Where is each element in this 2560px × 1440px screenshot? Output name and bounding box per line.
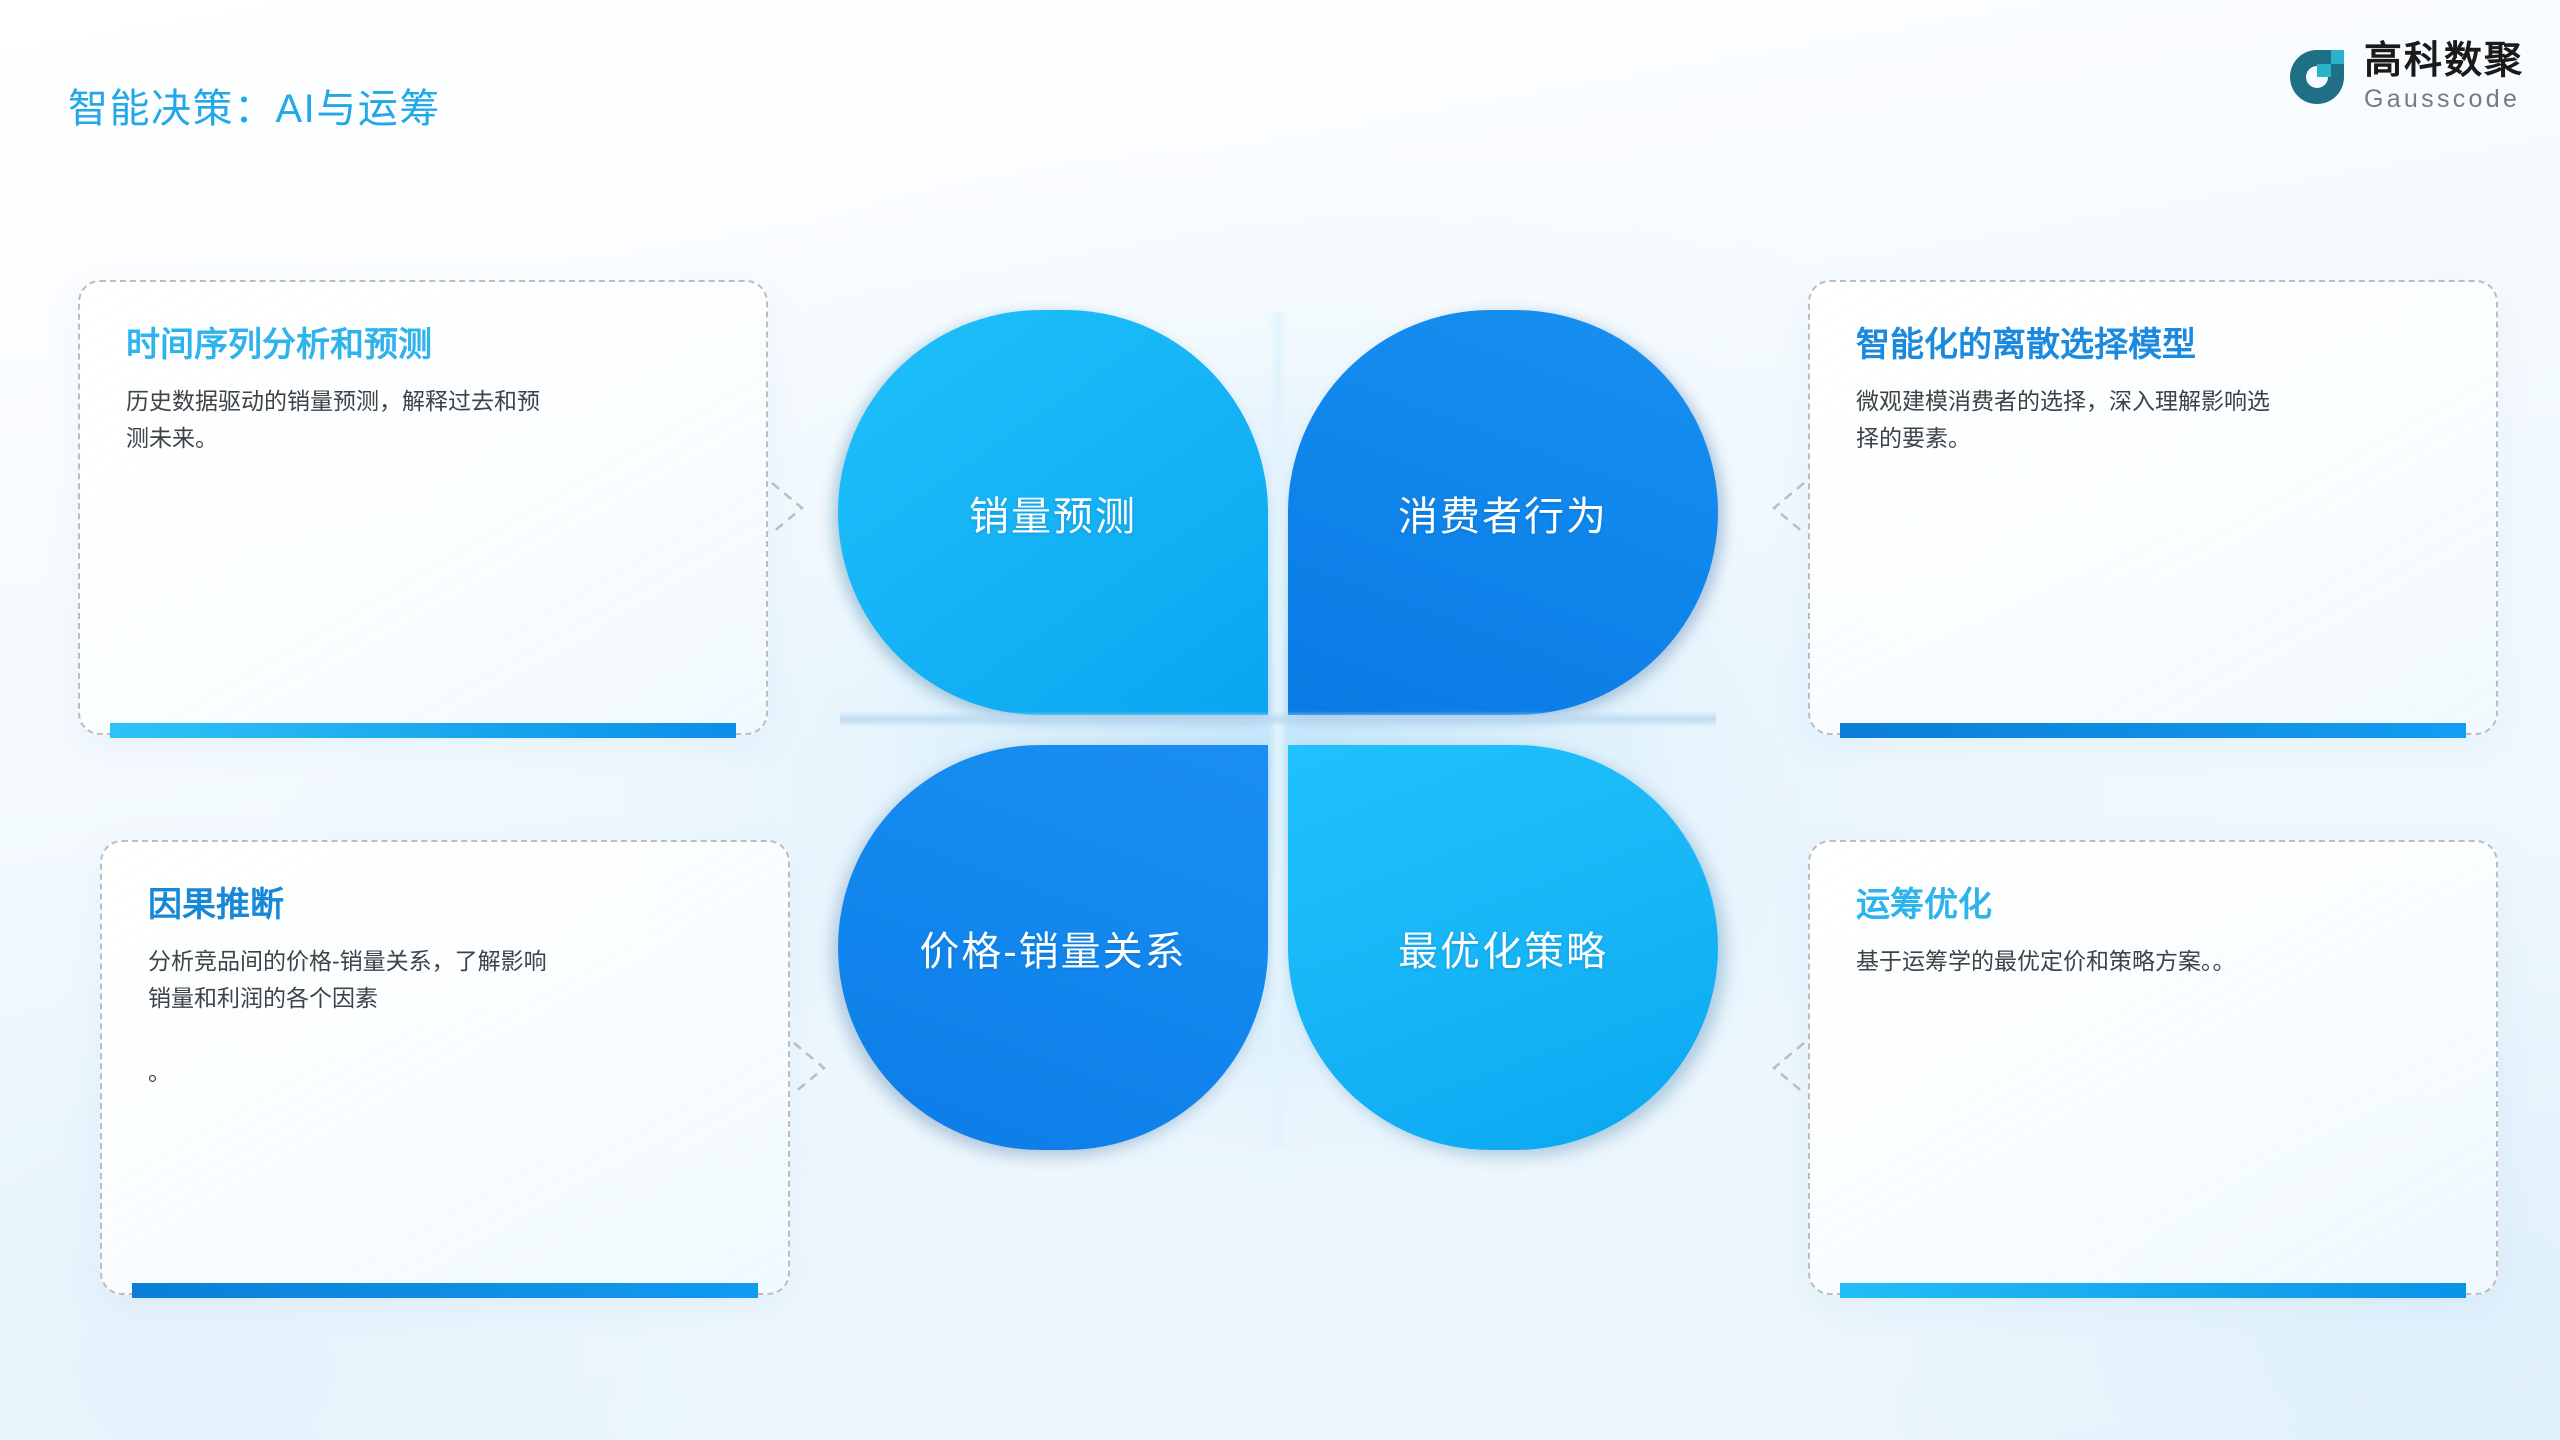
brand-logo: 高科数聚 Gausscode bbox=[2286, 42, 2524, 112]
petal-sales-forecast[interactable]: 销量预测 bbox=[838, 310, 1268, 715]
chevron-left-icon bbox=[1766, 477, 1808, 539]
chevron-left-icon bbox=[1766, 1037, 1808, 1099]
chevron-right-icon bbox=[790, 1037, 832, 1099]
info-card-body: 历史数据驱动的销量预测，解释过去和预 测未来。 bbox=[126, 383, 720, 458]
petal-label: 销量预测 bbox=[969, 484, 1137, 542]
brand-logo-text: 高科数聚 Gausscode bbox=[2364, 42, 2524, 112]
info-card-accent-bar bbox=[1840, 1283, 2466, 1298]
petal-label: 消费者行为 bbox=[1398, 484, 1608, 542]
info-card-title: 时间序列分析和预测 bbox=[126, 324, 720, 367]
chevron-right-icon bbox=[768, 477, 810, 539]
petal-price-sales-relation[interactable]: 价格-销量关系 bbox=[838, 745, 1268, 1150]
info-card-title: 运筹优化 bbox=[1856, 884, 2450, 927]
info-card-title: 智能化的离散选择模型 bbox=[1856, 324, 2450, 367]
info-card-body: 基于运筹学的最优定价和策略方案。。 bbox=[1856, 943, 2450, 980]
brand-name-en: Gausscode bbox=[2364, 87, 2524, 112]
petal-optimization-strategy[interactable]: 最优化策略 bbox=[1288, 745, 1718, 1150]
info-card-time-series[interactable]: 时间序列分析和预测 历史数据驱动的销量预测，解释过去和预 测未来。 bbox=[78, 280, 768, 735]
info-card-accent-bar bbox=[110, 723, 736, 738]
info-card-causal-inference[interactable]: 因果推断 分析竞品间的价格-销量关系，了解影响 销量和利润的各个因素 。 bbox=[100, 840, 790, 1295]
info-card-operations-research[interactable]: 运筹优化 基于运筹学的最优定价和策略方案。。 bbox=[1808, 840, 2498, 1295]
slide-canvas: 智能决策：AI与运筹 高科数聚 Gausscode 时间序列分析和预测 历史数据… bbox=[0, 0, 2560, 1440]
info-card-title: 因果推断 bbox=[148, 884, 742, 927]
info-card-body: 分析竞品间的价格-销量关系，了解影响 销量和利润的各个因素 。 bbox=[148, 943, 742, 1092]
gausscode-logo-mark-icon bbox=[2286, 46, 2348, 108]
page-title: 智能决策：AI与运筹 bbox=[68, 76, 441, 134]
info-card-accent-bar bbox=[1840, 723, 2466, 738]
info-card-accent-bar bbox=[132, 1283, 758, 1298]
info-card-body: 微观建模消费者的选择，深入理解影响选 择的要素。 bbox=[1856, 383, 2450, 458]
info-card-discrete-choice[interactable]: 智能化的离散选择模型 微观建模消费者的选择，深入理解影响选 择的要素。 bbox=[1808, 280, 2498, 735]
petal-consumer-behavior[interactable]: 消费者行为 bbox=[1288, 310, 1718, 715]
brand-name-cn: 高科数聚 bbox=[2364, 42, 2524, 80]
clover-seam-vertical bbox=[1269, 312, 1287, 1148]
clover-seam-horizontal bbox=[840, 711, 1716, 727]
petal-label: 价格-销量关系 bbox=[919, 919, 1186, 977]
petal-label: 最优化策略 bbox=[1398, 919, 1608, 977]
clover-diagram: 销量预测 消费者行为 价格-销量关系 最优化策略 bbox=[838, 310, 1718, 1150]
